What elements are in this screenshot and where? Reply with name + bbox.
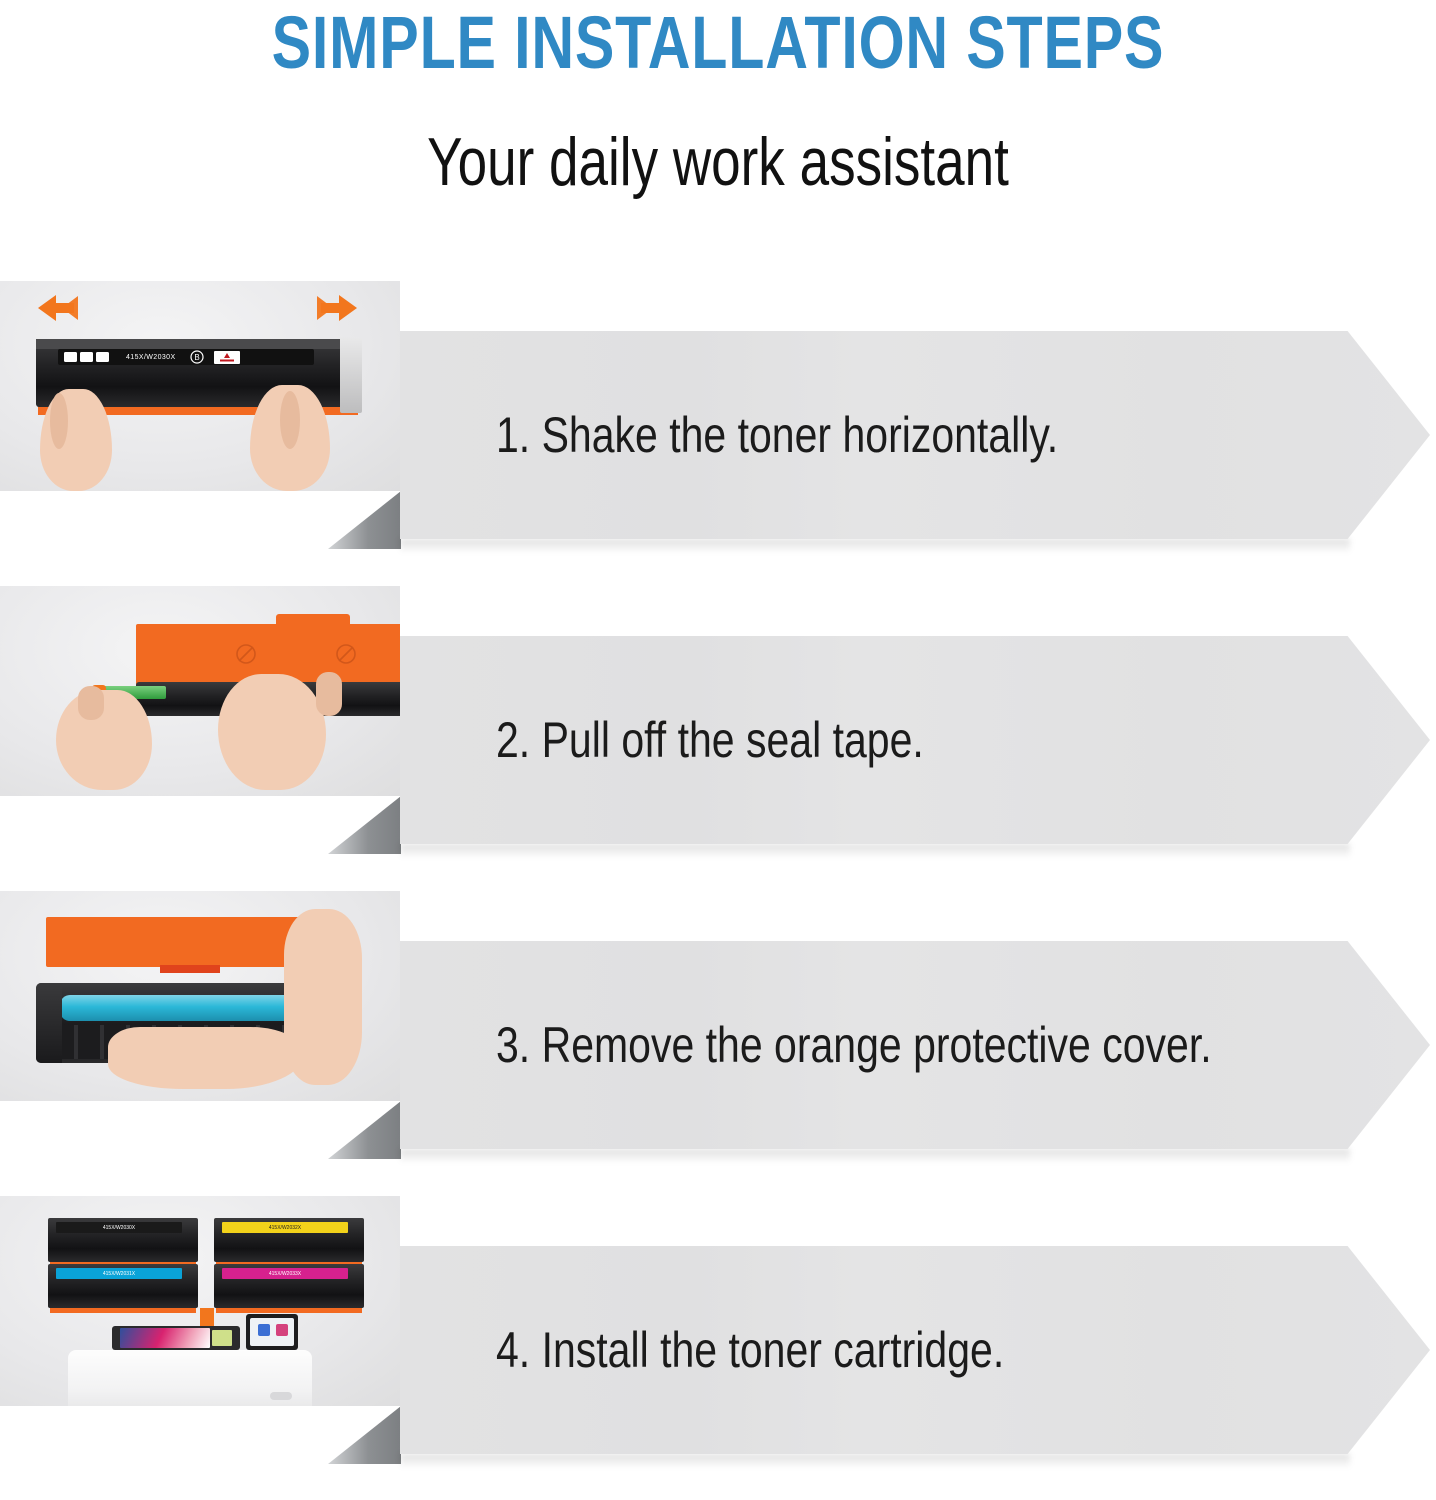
brand-badge xyxy=(214,351,240,364)
cartridge-cyan-label: 415X/W2031X xyxy=(56,1268,182,1279)
step-2-text: 2. Pull off the seal tape. xyxy=(496,636,924,844)
svg-text:B: B xyxy=(194,353,199,362)
step-4-banner: 4. Install the toner cartridge. xyxy=(400,1246,1430,1454)
cartridge-mark-icon: B xyxy=(190,350,204,364)
cartridge-yellow-label: 415X/W2032X xyxy=(222,1222,348,1233)
banner-shadow xyxy=(400,844,1350,858)
brand-logo-icon xyxy=(214,351,240,364)
cartridge-black-label: 415X/W2030X xyxy=(56,1222,182,1233)
cartridge-label-text: 415X/W2030X xyxy=(126,354,176,361)
header: SIMPLE INSTALLATION STEPS Your daily wor… xyxy=(0,0,1436,198)
orange-cover-clip xyxy=(160,965,220,973)
arrow-right-icon xyxy=(305,293,367,323)
printer-button xyxy=(270,1392,292,1400)
fold-triangle-1 xyxy=(328,491,401,549)
left-hand-finger xyxy=(50,393,68,449)
step-3-text: 3. Remove the orange protective cover. xyxy=(496,941,1212,1149)
fold-triangle-2 xyxy=(328,796,401,854)
banner-shadow xyxy=(400,1149,1350,1163)
step-2-photo xyxy=(0,586,400,796)
step-row-1: 415X/W2030X B xyxy=(0,281,1436,545)
page-subtitle: Your daily work assistant xyxy=(158,82,1278,198)
drum-roller xyxy=(60,995,322,1021)
step-1-banner: 1. Shake the toner horizontally. xyxy=(400,331,1430,539)
orange-cover-tab xyxy=(276,614,350,628)
installation-steps-page: SIMPLE INSTALLATION STEPS Your daily wor… xyxy=(0,0,1436,1500)
warning-icons xyxy=(64,351,110,363)
step-row-4: 415X/W2030X 415X/W2032X 415X/W2031X 415X… xyxy=(0,1196,1436,1460)
step-row-2: 2. Pull off the seal tape. xyxy=(0,586,1436,850)
right-hand-thumb xyxy=(316,672,342,716)
step-row-3: 3. Remove the orange protective cover. xyxy=(0,891,1436,1155)
no-touch-icons xyxy=(230,641,360,667)
step-3-banner: 3. Remove the orange protective cover. xyxy=(400,941,1430,1149)
cartridge-left-cap xyxy=(36,983,62,1063)
right-hand xyxy=(218,674,326,790)
cartridge-label: 415X/W2030X B xyxy=(58,349,314,365)
step-4-photo: 415X/W2030X 415X/W2032X 415X/W2031X 415X… xyxy=(0,1196,400,1406)
step-1-text: 1. Shake the toner horizontally. xyxy=(496,331,1058,539)
arrow-left-icon xyxy=(28,293,90,323)
fold-triangle-3 xyxy=(328,1101,401,1159)
banner-shadow xyxy=(400,539,1350,553)
fold-triangle-4 xyxy=(328,1406,401,1464)
cartridge-magenta-label: 415X/W2033X xyxy=(222,1268,348,1279)
step-3-photo xyxy=(0,891,400,1101)
right-hand-finger xyxy=(280,391,300,449)
supporting-hand xyxy=(108,1027,304,1089)
printed-sheet-edge xyxy=(212,1330,232,1346)
screen-tile-pink xyxy=(276,1324,288,1336)
printed-photo xyxy=(120,1328,210,1348)
cartridge-top-edge xyxy=(36,339,362,349)
step-1-photo: 415X/W2030X B xyxy=(0,281,400,491)
banner-shadow xyxy=(400,1454,1350,1468)
cartridge-end-cap xyxy=(340,337,362,413)
screen-tile-blue xyxy=(258,1324,270,1336)
step-4-text: 4. Install the toner cartridge. xyxy=(496,1246,1004,1454)
step-2-banner: 2. Pull off the seal tape. xyxy=(400,636,1430,844)
page-title: SIMPLE INSTALLATION STEPS xyxy=(144,0,1293,82)
left-hand-thumb xyxy=(78,686,104,720)
left-hand xyxy=(56,690,152,790)
